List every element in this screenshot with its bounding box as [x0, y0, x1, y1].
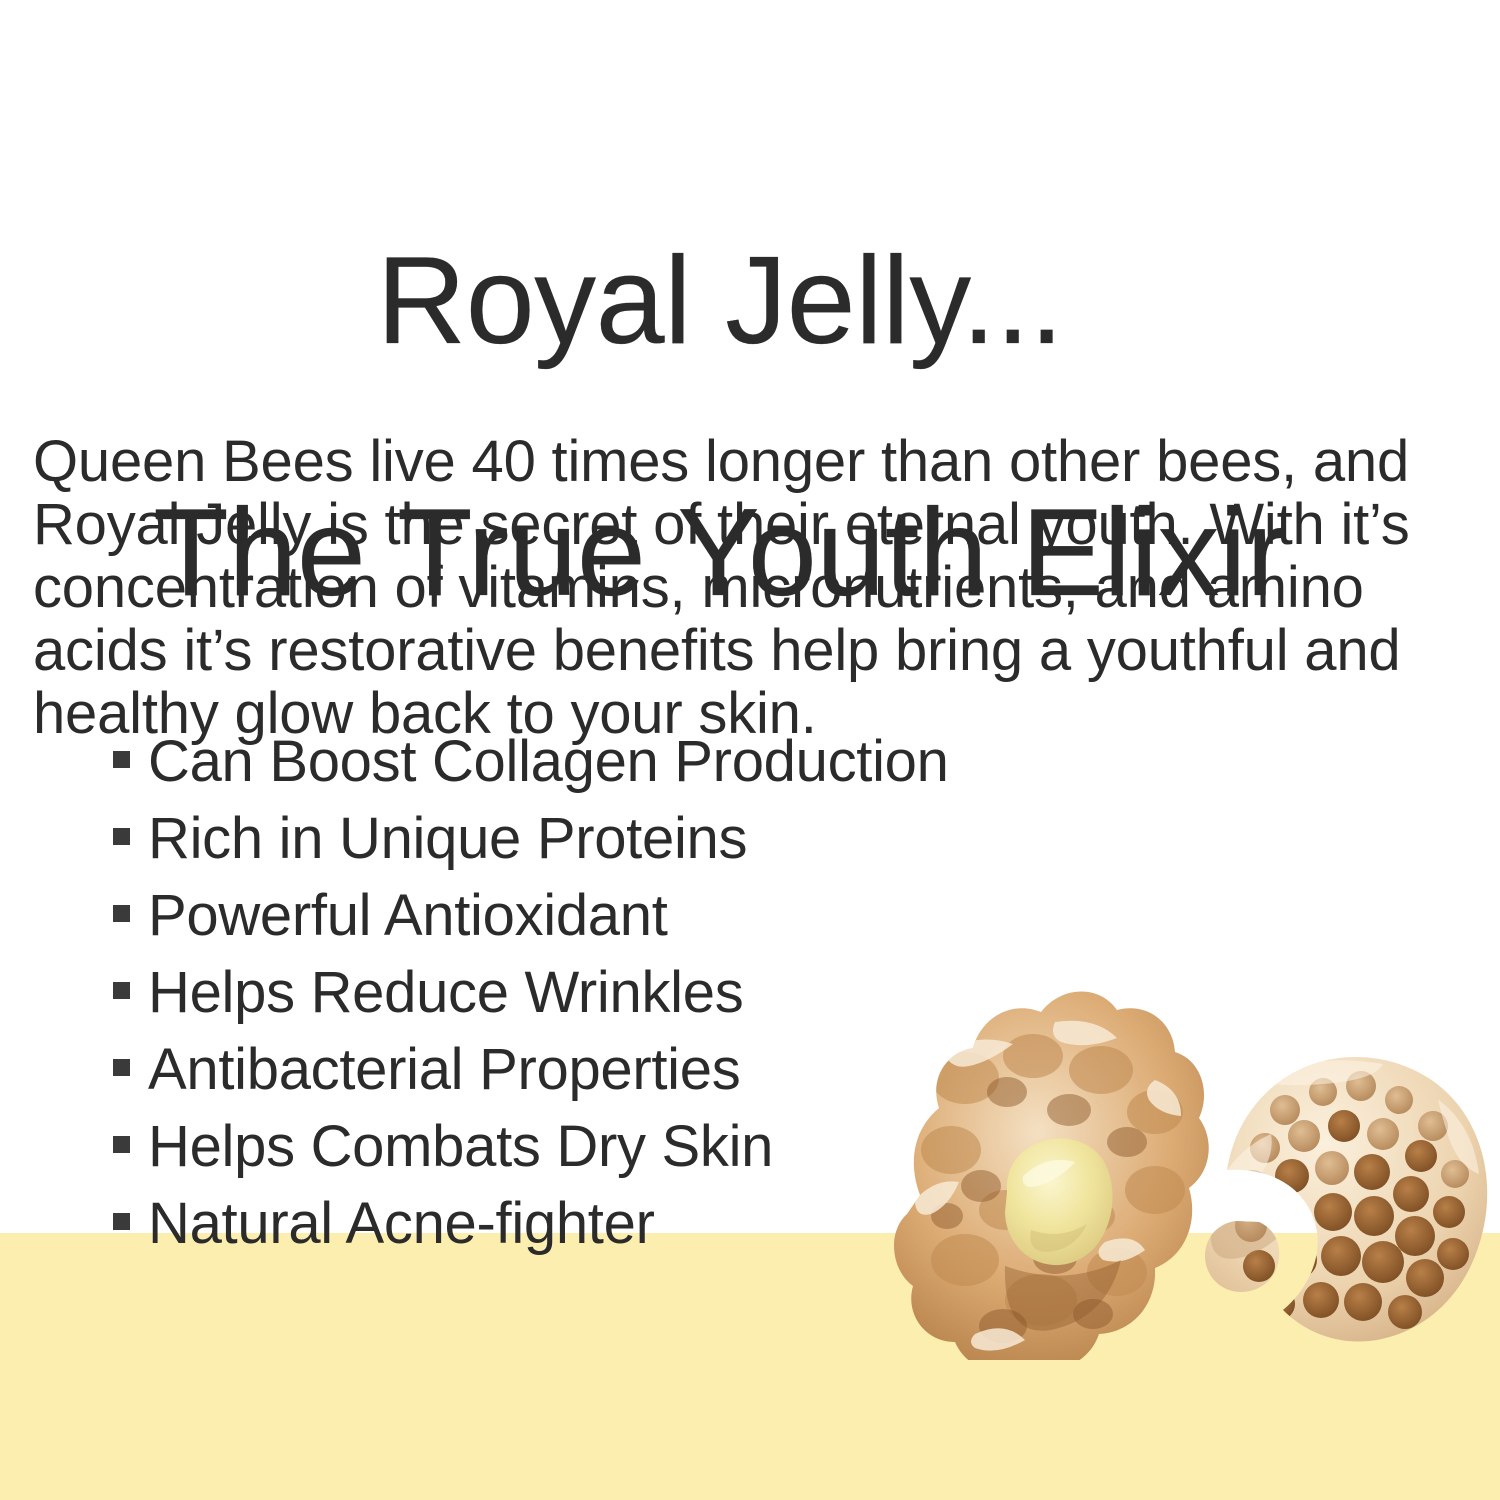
benefit-label: Rich in Unique Proteins	[148, 810, 747, 868]
benefit-label: Helps Combats Dry Skin	[148, 1118, 773, 1176]
list-item: Powerful Antioxidant	[113, 877, 1213, 954]
square-bullet-icon	[113, 828, 130, 845]
title-line-1: Royal Jelly...	[0, 238, 1440, 364]
list-item: Helps Combats Dry Skin	[113, 1108, 1213, 1185]
list-item: Can Boost Collagen Production	[113, 723, 1213, 800]
square-bullet-icon	[113, 1136, 130, 1153]
list-item: Helps Reduce Wrinkles	[113, 954, 1213, 1031]
list-item: Antibacterial Properties	[113, 1031, 1213, 1108]
square-bullet-icon	[113, 982, 130, 999]
benefit-label: Natural Acne-fighter	[148, 1195, 655, 1253]
benefit-label: Can Boost Collagen Production	[148, 733, 949, 791]
benefits-list: Can Boost Collagen Production Rich in Un…	[113, 723, 1213, 1262]
square-bullet-icon	[113, 905, 130, 922]
benefit-label: Powerful Antioxidant	[148, 887, 668, 945]
benefit-label: Helps Reduce Wrinkles	[148, 964, 743, 1022]
list-item: Rich in Unique Proteins	[113, 800, 1213, 877]
royal-jelly-infographic: Royal Jelly... The True Youth Elixir Que…	[0, 0, 1500, 1500]
intro-paragraph: Queen Bees live 40 times longer than oth…	[33, 430, 1473, 745]
benefit-label: Antibacterial Properties	[148, 1041, 740, 1099]
bottom-color-band	[0, 1233, 1500, 1500]
square-bullet-icon	[113, 751, 130, 768]
square-bullet-icon	[113, 1213, 130, 1230]
square-bullet-icon	[113, 1059, 130, 1076]
list-item: Natural Acne-fighter	[113, 1185, 1213, 1262]
